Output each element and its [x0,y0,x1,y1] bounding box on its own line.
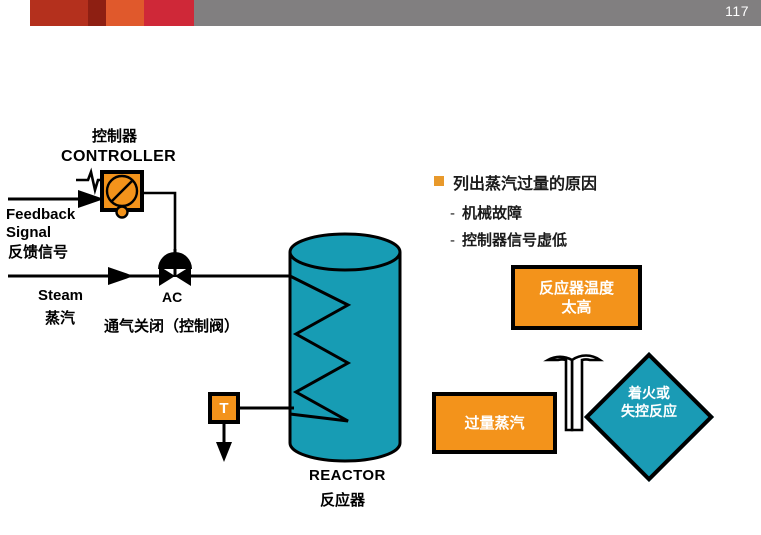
fire-runaway-line-1: 着火或 [603,385,695,403]
controller-symbol [100,170,144,218]
feedback-signal-label-english: Feedback Signal [6,206,75,242]
reactor-vessel [290,234,400,461]
steam-inlet-line [8,267,160,285]
feedback-line-2: Signal [6,224,75,242]
reactor-label-english: REACTOR [309,468,386,485]
sensor-output-arrow [216,424,232,462]
fire-runaway-text: 着火或 失控反应 [603,385,695,421]
notes-panel: 列出蒸汽过量的原因 - 机械故障 - 控制器信号虚低 [434,170,597,256]
controller-label-english: CONTROLLER [61,148,176,166]
sub-item-2-text: 控制器信号虚低 [462,229,567,250]
temperature-high-line-1: 反应器温度 [539,279,614,298]
bullet-item-main: 列出蒸汽过量的原因 [434,170,597,194]
feedback-signal-label-chinese: 反馈信号 [8,244,68,261]
steam-label-english: Steam [38,288,83,305]
fire-runaway-line-2: 失控反应 [603,403,695,421]
temperature-high-line-2: 太高 [539,298,614,317]
excess-steam-text: 过量蒸汽 [464,414,524,433]
sub-item-1-text: 机械故障 [462,202,522,223]
bullet-square-icon [434,176,444,186]
valve-tag-label: AC [162,290,182,306]
bullet-main-text: 列出蒸汽过量的原因 [453,170,597,194]
controller-label-chinese: 控制器 [92,128,137,145]
temperature-high-text: 反应器温度 太高 [539,279,614,317]
sub-item-2: - 控制器信号虚低 [450,229,597,250]
feedback-line-1: Feedback [6,206,75,224]
sub-item-2-dash: - [450,232,455,249]
temperature-sensor-letter: T [212,396,236,420]
sub-item-1: - 机械故障 [450,202,597,223]
setpoint-squiggle-line [76,172,104,190]
controller-to-valve-signal-line [144,193,175,249]
reactor-label-chinese: 反应器 [320,492,365,509]
consequence-box-excess-steam: 过量蒸汽 [432,392,557,454]
consequence-box-temperature-high: 反应器温度 太高 [511,265,642,330]
sub-item-1-dash: - [450,205,455,222]
valve-label-chinese: 通气关闭（控制阀） [104,318,239,335]
steam-label-chinese: 蒸汽 [45,310,75,327]
